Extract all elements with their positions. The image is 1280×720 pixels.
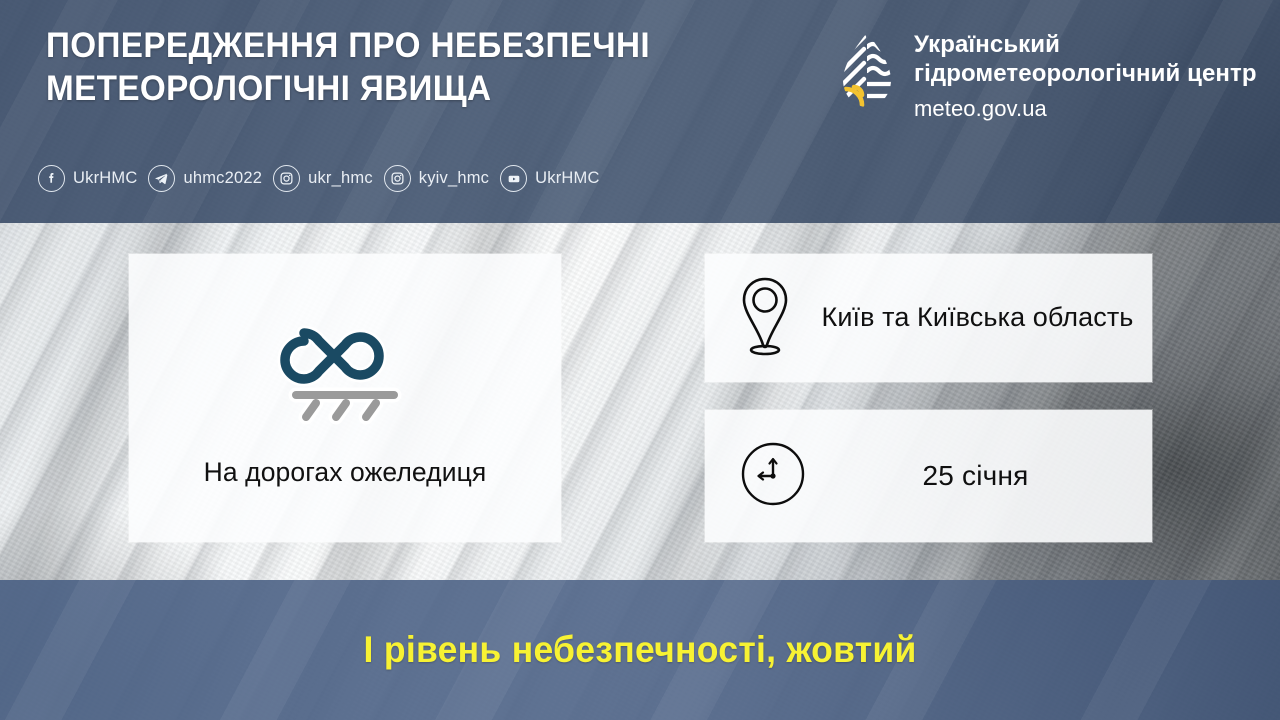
header-band: ПОПЕРЕДЖЕННЯ ПРО НЕБЕЗПЕЧНІ МЕТЕОРОЛОГІЧ…	[0, 0, 1280, 223]
danger-level-text: І рівень небезпечності, жовтий	[363, 629, 916, 671]
social-label-youtube: UkrHMC	[535, 169, 599, 188]
youtube-icon	[500, 165, 527, 192]
social-links-row: UkrHMC uhmc2022	[38, 165, 600, 192]
footer-band: І рівень небезпечності, жовтий	[0, 580, 1280, 720]
hazard-label: На дорогах ожеледиця	[129, 457, 561, 488]
brand-website: meteo.gov.ua	[914, 96, 1280, 122]
social-link-youtube[interactable]: UkrHMC	[500, 165, 599, 192]
social-label-instagram-kyiv: kyiv_hmc	[419, 169, 489, 188]
social-link-facebook[interactable]: UkrHMC	[38, 165, 137, 192]
region-card: Київ та Київська область	[705, 254, 1152, 382]
instagram-icon	[384, 165, 411, 192]
region-label: Київ та Київська область	[817, 300, 1152, 336]
weather-warning-poster: ПОПЕРЕДЖЕННЯ ПРО НЕБЕЗПЕЧНІ МЕТЕОРОЛОГІЧ…	[0, 0, 1280, 720]
telegram-icon	[148, 165, 175, 192]
black-ice-on-road-icon	[260, 307, 430, 427]
social-link-telegram[interactable]: uhmc2022	[148, 165, 262, 192]
social-label-instagram-ukr: ukr_hmc	[308, 169, 373, 188]
social-label-telegram: uhmc2022	[183, 169, 262, 188]
page-title: ПОПЕРЕДЖЕННЯ ПРО НЕБЕЗПЕЧНІ МЕТЕОРОЛОГІЧ…	[46, 24, 787, 111]
ukrainian-hydrometeorological-center-droplet-logo	[838, 31, 896, 120]
date-label: 25 січня	[833, 460, 1152, 492]
brand-name: Український гідрометеорологічний центр	[914, 31, 1280, 89]
date-card: 25 січня	[705, 410, 1152, 542]
instagram-icon	[273, 165, 300, 192]
map-pin-icon	[737, 275, 793, 362]
social-link-instagram-kyiv[interactable]: kyiv_hmc	[384, 165, 489, 192]
brand-block[interactable]: Український гідрометеорологічний центр m…	[838, 31, 1280, 122]
social-link-instagram-ukr[interactable]: ukr_hmc	[273, 165, 373, 192]
clock-icon	[737, 438, 809, 515]
hazard-card: На дорогах ожеледиця	[129, 254, 561, 542]
facebook-icon	[38, 165, 65, 192]
social-label-facebook: UkrHMC	[73, 169, 137, 188]
